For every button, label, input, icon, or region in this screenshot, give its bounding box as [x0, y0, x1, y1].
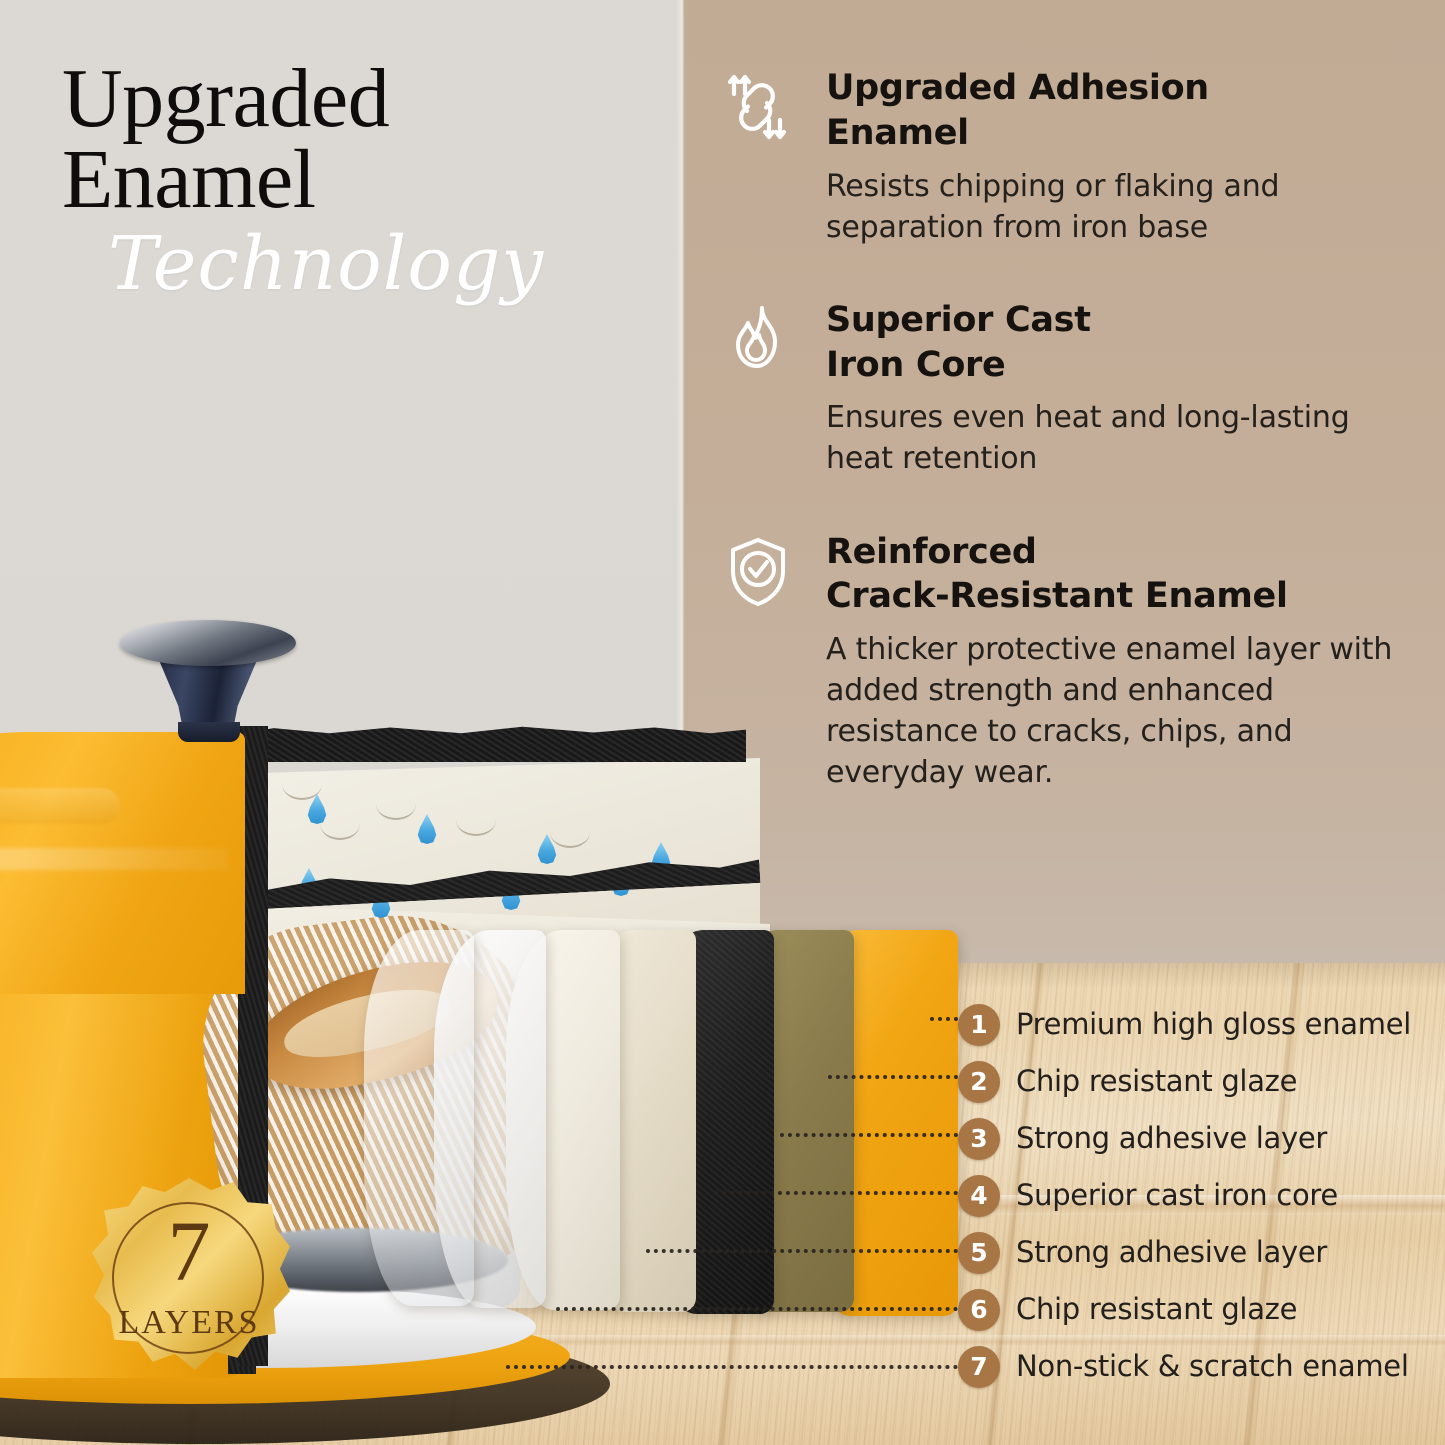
- leader-line-5: [646, 1249, 966, 1256]
- legend-row: 3 Strong adhesive layer: [958, 1110, 1445, 1167]
- chain-link-arrows-icon: [722, 72, 794, 144]
- title-script-word: Technology: [108, 227, 662, 301]
- legend-label: Strong adhesive layer: [1016, 1237, 1327, 1269]
- feature-description: Ensures even heat and long-lasting heat …: [826, 397, 1414, 479]
- product-infographic: Upgraded Enamel Technology: [0, 0, 1445, 1445]
- leader-line-6: [556, 1307, 966, 1314]
- lid-embossed-logo: [0, 788, 120, 824]
- leader-line-7: [506, 1365, 966, 1372]
- legend-label: Chip resistant glaze: [1016, 1294, 1297, 1326]
- legend-row: 7 Non-stick & scratch enamel: [958, 1338, 1445, 1395]
- legend-number-badge: 3: [958, 1118, 1000, 1160]
- page-title: Upgraded Enamel Technology: [62, 58, 662, 301]
- legend-row: 2 Chip resistant glaze: [958, 1053, 1445, 1110]
- feature-description: Resists chipping or flaking and separati…: [826, 166, 1414, 248]
- feature-item-crack-resistant: Reinforced Crack-Resistant Enamel A thic…: [714, 530, 1414, 794]
- feature-title: Upgraded Adhesion Enamel: [826, 66, 1414, 156]
- feature-title-line-2: Crack-Resistant Enamel: [826, 576, 1288, 616]
- legend-row: 5 Strong adhesive layer: [958, 1224, 1445, 1281]
- feature-title-line-2: Enamel: [826, 113, 969, 153]
- legend-row: 6 Chip resistant glaze: [958, 1281, 1445, 1338]
- layer-legend-list: 1 Premium high gloss enamel 2 Chip resis…: [958, 996, 1445, 1395]
- feature-title-line-1: Upgraded Adhesion: [826, 68, 1209, 108]
- lid-knob-base: [178, 722, 240, 742]
- legend-number-badge: 4: [958, 1175, 1000, 1217]
- badge-label: LAYERS: [88, 1306, 290, 1340]
- exploded-layer-fan: [330, 930, 1050, 1350]
- title-line-2: Enamel: [62, 139, 662, 220]
- feature-description: A thicker protective enamel layer with a…: [826, 629, 1414, 793]
- feature-list: Upgraded Adhesion Enamel Resists chippin…: [714, 66, 1414, 836]
- legend-label: Strong adhesive layer: [1016, 1123, 1327, 1155]
- leader-line-3: [780, 1133, 966, 1140]
- legend-label: Non-stick & scratch enamel: [1016, 1351, 1409, 1383]
- feature-title-line-2: Iron Core: [826, 345, 1005, 385]
- layer-sheet-1-gloss: [364, 930, 474, 1306]
- title-line-1: Upgraded: [62, 58, 662, 139]
- legend-number-badge: 6: [958, 1289, 1000, 1331]
- lid-gloss-highlight: [0, 848, 228, 870]
- badge-number: 7: [88, 1208, 290, 1294]
- legend-number-badge: 7: [958, 1346, 1000, 1388]
- legend-number-badge: 1: [958, 1004, 1000, 1046]
- legend-number-badge: 5: [958, 1232, 1000, 1274]
- feature-title-line-1: Superior Cast: [826, 300, 1091, 340]
- leader-line-2: [828, 1075, 966, 1082]
- feature-title: Reinforced Crack-Resistant Enamel: [826, 530, 1414, 620]
- leader-line-4: [714, 1191, 966, 1198]
- feature-item-cast-iron: Superior Cast Iron Core Ensures even hea…: [714, 298, 1414, 480]
- flame-icon: [722, 304, 794, 376]
- legend-number-badge: 2: [958, 1061, 1000, 1103]
- feature-title: Superior Cast Iron Core: [826, 298, 1414, 388]
- legend-label: Chip resistant glaze: [1016, 1066, 1297, 1098]
- legend-row: 1 Premium high gloss enamel: [958, 996, 1445, 1053]
- seven-layers-badge: 7 LAYERS: [88, 1178, 290, 1380]
- legend-row: 4 Superior cast iron core: [958, 1167, 1445, 1224]
- legend-label: Superior cast iron core: [1016, 1180, 1338, 1212]
- feature-title-line-1: Reinforced: [826, 532, 1037, 572]
- lid-knob-cap: [120, 620, 296, 666]
- lid-iron-cut-edge: [238, 726, 746, 762]
- feature-item-adhesion: Upgraded Adhesion Enamel Resists chippin…: [714, 66, 1414, 248]
- legend-label: Premium high gloss enamel: [1016, 1009, 1411, 1041]
- shield-check-icon: [722, 536, 794, 608]
